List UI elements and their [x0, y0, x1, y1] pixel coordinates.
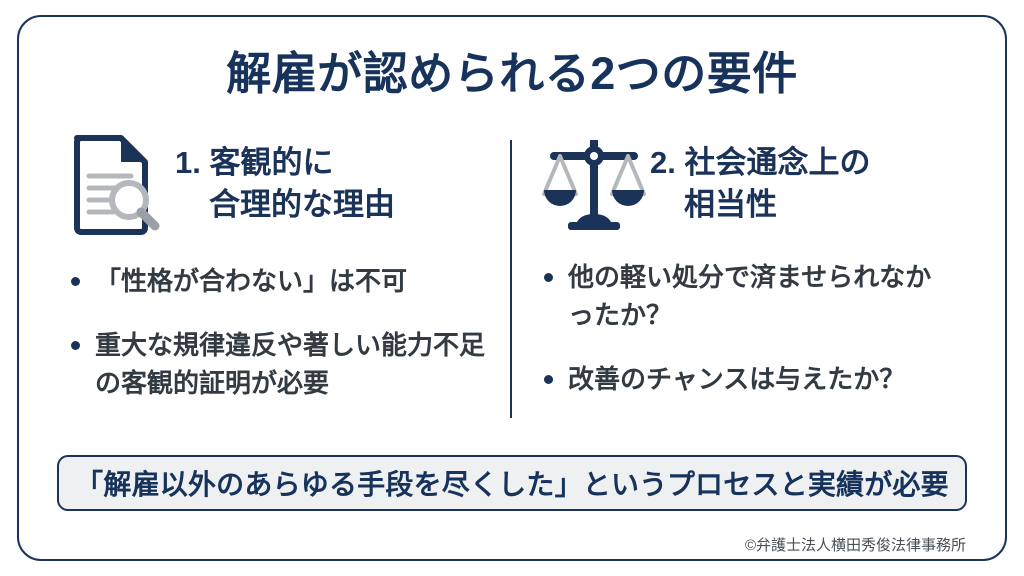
summary-banner: 「解雇以外のあらゆる手段を尽くした」というプロセスと実績が必要 — [57, 455, 967, 511]
requirement-1-title-line2: 合理的な理由 — [175, 184, 395, 226]
requirement-1-bullet-list: 「性格が合わない」は不可 重大な規律違反や著しい能力不足の客観的証明が必要 — [69, 262, 510, 402]
list-item: 重大な規律違反や著しい能力不足の客観的証明が必要 — [69, 326, 495, 402]
requirement-2-bullet-list: 他の軽い処分で済ませられなかったか？ 改善のチャンスは与えたか？ — [542, 258, 975, 398]
copyright-footer: ©弁護士法人横田秀俊法律事務所 — [745, 534, 966, 555]
requirement-column-1: 1. 客観的に 合理的な理由 「性格が合わない」は不可 重大な規律違反や著しい能… — [45, 132, 510, 422]
list-item: 改善のチャンスは与えたか？ — [542, 360, 948, 398]
requirement-1-header: 1. 客観的に 合理的な理由 — [69, 132, 510, 242]
balance-scale-icon — [542, 132, 646, 236]
requirement-1-title-line1: 1. 客観的に — [175, 145, 333, 180]
slide-root: 解雇が認められる2つの要件 1. 客観的に — [0, 0, 1024, 576]
document-magnifier-icon — [69, 132, 165, 236]
summary-banner-text: 「解雇以外のあらゆる手段を尽くした」というプロセスと実績が必要 — [75, 463, 949, 503]
requirement-2-header: 2. 社会通念上の 相当性 — [542, 132, 975, 242]
page-title: 解雇が認められる2つの要件 — [0, 45, 1024, 103]
requirement-2-title-line1: 2. 社会通念上の — [650, 145, 870, 180]
requirements-columns: 1. 客観的に 合理的な理由 「性格が合わない」は不可 重大な規律違反や著しい能… — [45, 132, 979, 422]
requirement-1-title: 1. 客観的に 合理的な理由 — [175, 132, 395, 226]
requirement-2-title: 2. 社会通念上の 相当性 — [650, 132, 870, 226]
requirement-column-2: 2. 社会通念上の 相当性 他の軽い処分で済ませられなかったか？ 改善のチャンス… — [510, 132, 975, 422]
list-item: 「性格が合わない」は不可 — [69, 262, 495, 300]
requirement-2-title-line2: 相当性 — [650, 184, 870, 226]
list-item: 他の軽い処分で済ませられなかったか？ — [542, 258, 948, 334]
